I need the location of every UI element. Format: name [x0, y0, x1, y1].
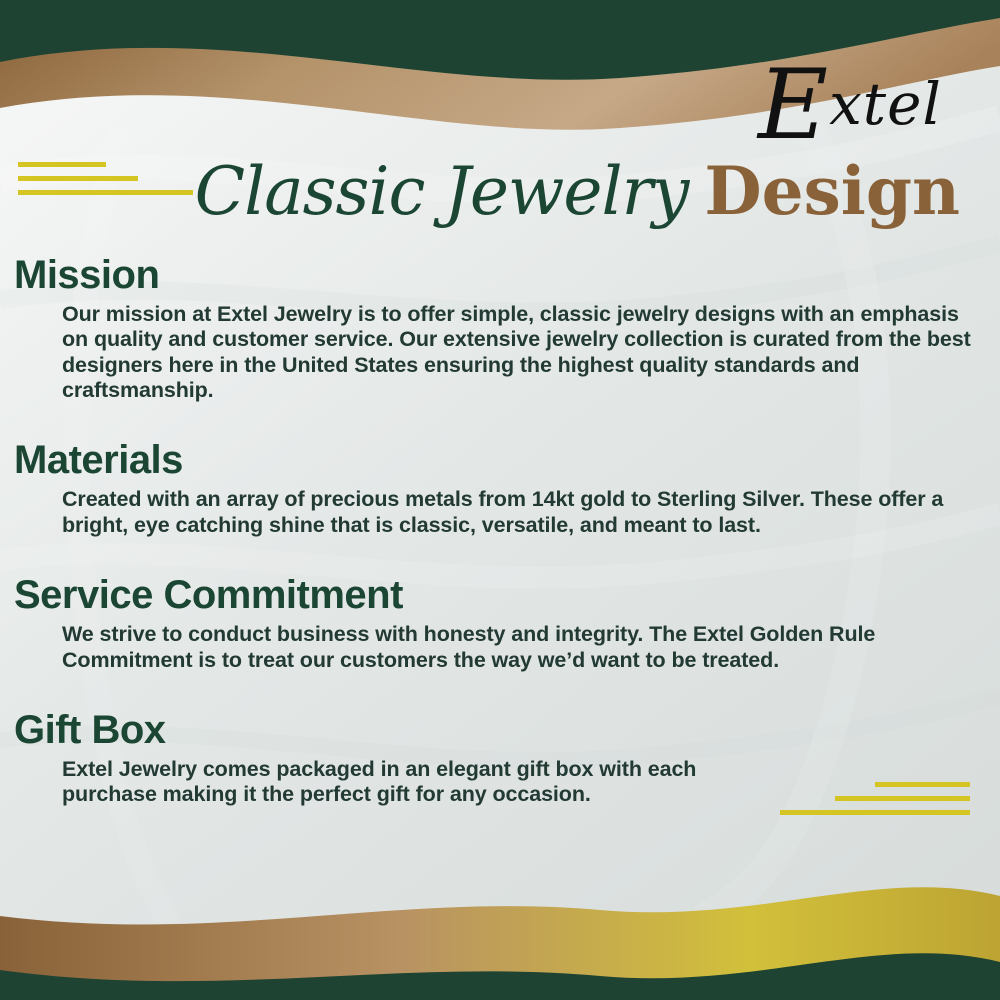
- brand-logo-initial: E: [758, 49, 829, 161]
- rule-line: [18, 176, 138, 181]
- page-title-main: Classic Jewelry: [195, 153, 689, 230]
- section-body: Our mission at Extel Jewelry is to offer…: [62, 302, 986, 403]
- section-gift-box: Gift Box Extel Jewelry comes packaged in…: [14, 707, 986, 808]
- rule-line: [18, 162, 106, 167]
- section-materials: Materials Created with an array of preci…: [14, 437, 986, 538]
- rule-line: [18, 190, 193, 195]
- section-heading: Gift Box: [14, 707, 986, 753]
- brand-logo-rest: xtel: [829, 70, 942, 138]
- section-service-commitment: Service Commitment We strive to conduct …: [14, 572, 986, 673]
- section-heading: Mission: [14, 252, 986, 298]
- section-heading: Service Commitment: [14, 572, 986, 618]
- page-title-accent: Design: [704, 152, 960, 230]
- decorative-lines-top-left: [18, 162, 218, 204]
- poster-canvas: Extel Classic JewelryDesign Mission Our …: [0, 0, 1000, 1000]
- section-body: Created with an array of precious metals…: [62, 487, 986, 538]
- section-body: Extel Jewelry comes packaged in an elega…: [62, 757, 782, 808]
- brand-logo: Extel: [758, 72, 942, 139]
- section-body: We strive to conduct business with hones…: [62, 622, 986, 673]
- content-sections: Mission Our mission at Extel Jewelry is …: [14, 252, 986, 822]
- section-heading: Materials: [14, 437, 986, 483]
- section-mission: Mission Our mission at Extel Jewelry is …: [14, 252, 986, 403]
